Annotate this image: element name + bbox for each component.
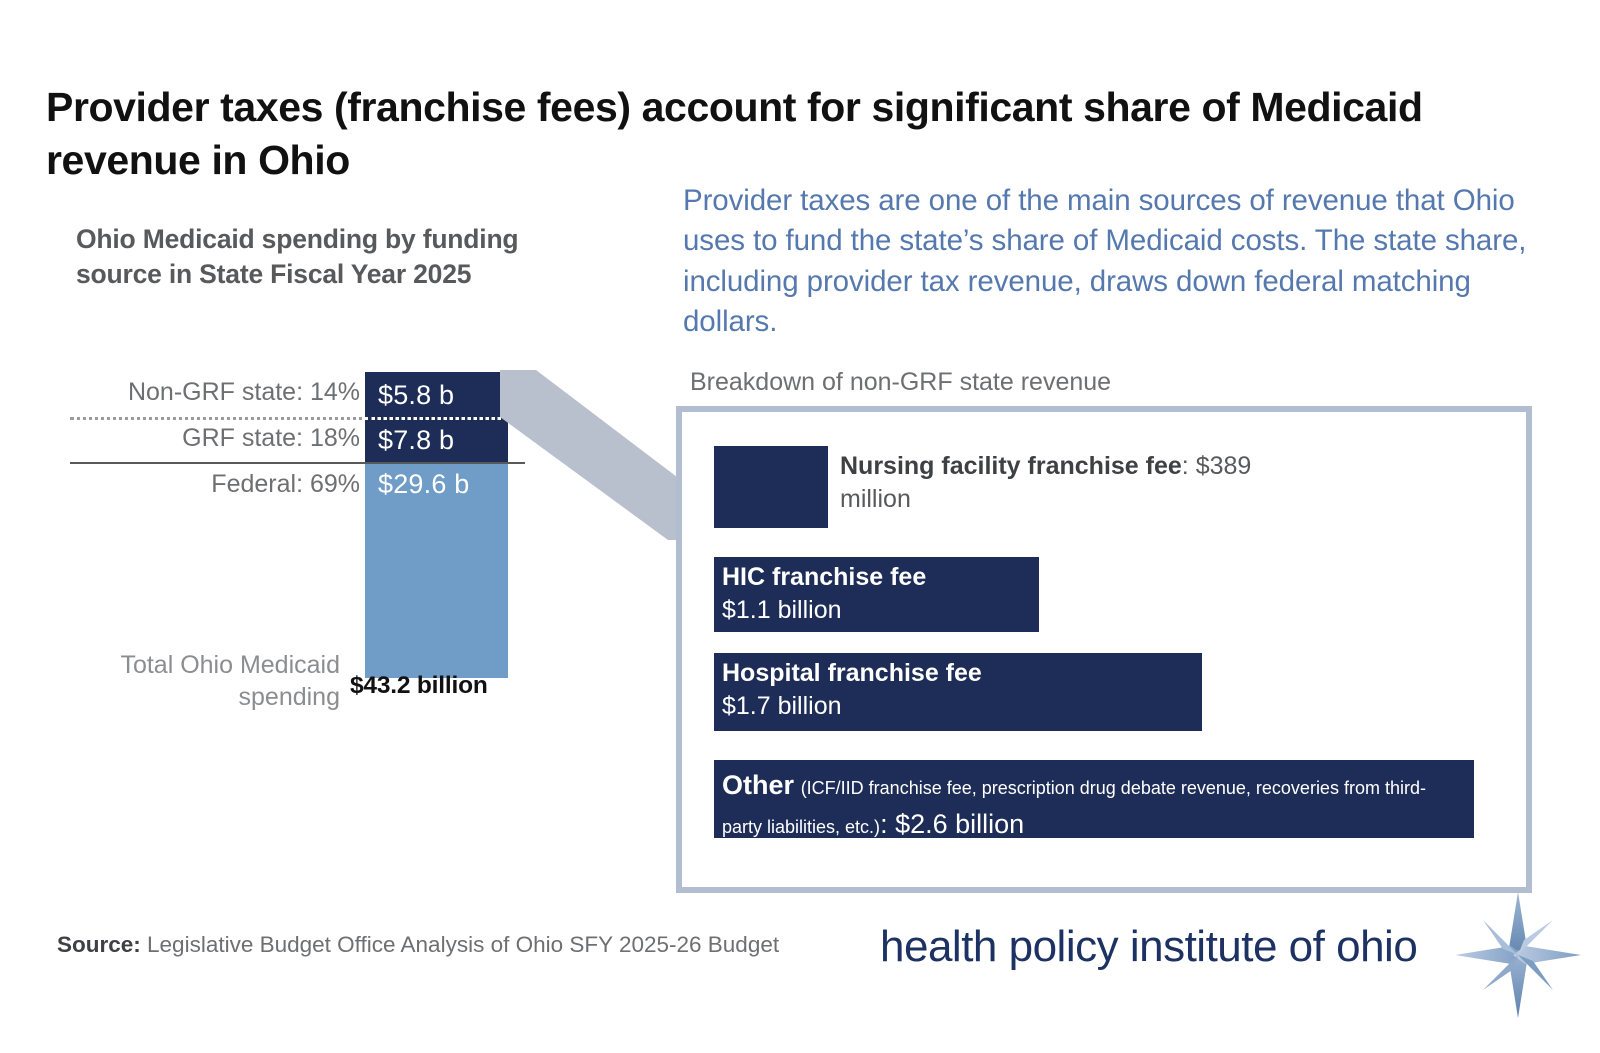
fee-amount-other: $2.6 billion xyxy=(895,809,1024,839)
infographic-canvas: Provider taxes (franchise fees) account … xyxy=(0,0,1600,1053)
page-title: Provider taxes (franchise fees) account … xyxy=(46,81,1506,186)
fee-label-nursing-facility: Nursing facility franchise fee: $389 mil… xyxy=(840,450,1270,515)
fee-separator-other: : xyxy=(880,809,895,839)
fee-label-hic: HIC franchise fee $1.1 billion xyxy=(722,561,926,627)
total-spending-label: Total Ohio Medicaid spending xyxy=(55,650,340,713)
fee-label-hospital: Hospital franchise fee $1.7 billion xyxy=(722,657,982,723)
fee-amount-hospital: $1.7 billion xyxy=(722,692,842,720)
source-text: Legislative Budget Office Analysis of Oh… xyxy=(141,932,779,957)
bar-segment-non-grf: $5.8 b xyxy=(365,372,508,418)
fee-amount-hic: $1.1 billion xyxy=(722,596,842,624)
bar-value-non-grf: $5.8 b xyxy=(365,380,454,411)
source-label: Source: xyxy=(57,932,141,957)
total-spending-value: $43.2 billion xyxy=(350,672,488,700)
intro-paragraph: Provider taxes are one of the main sourc… xyxy=(683,181,1528,343)
bar-value-federal: $29.6 b xyxy=(365,463,469,500)
fee-name-hospital: Hospital franchise fee xyxy=(722,659,982,687)
fee-bar-nursing-facility xyxy=(714,446,828,528)
compass-star-icon xyxy=(1453,890,1583,1020)
dotted-divider-overlay xyxy=(365,417,508,420)
fee-name-other: Other xyxy=(722,770,794,800)
bar-label-non-grf: Non-GRF state: 14% xyxy=(70,378,360,407)
fee-label-other: Other (ICF/IID franchise fee, prescripti… xyxy=(722,766,1462,844)
source-line: Source: Legislative Budget Office Analys… xyxy=(57,932,779,958)
bar-value-grf: $7.8 b xyxy=(365,425,454,456)
bar-label-grf: GRF state: 18% xyxy=(70,424,360,453)
bar-segment-grf: $7.8 b xyxy=(365,418,508,463)
left-chart-heading: Ohio Medicaid spending by funding source… xyxy=(76,222,536,292)
logo-wordmark: health policy institute of ohio xyxy=(880,922,1417,972)
fee-detail-other: (ICF/IID franchise fee, prescription dru… xyxy=(722,778,1426,837)
hpio-logo: health policy institute of ohio xyxy=(880,918,1540,990)
bar-segment-federal: $29.6 b xyxy=(365,463,508,678)
fee-name-hic: HIC franchise fee xyxy=(722,563,926,591)
bar-label-federal: Federal: 69% xyxy=(70,470,360,499)
solid-divider xyxy=(70,462,525,464)
breakdown-caption: Breakdown of non-GRF state revenue xyxy=(690,368,1111,397)
fee-name-nursing-facility: Nursing facility franchise fee xyxy=(840,452,1182,480)
fee-separator-nursing-facility: : xyxy=(1182,452,1196,480)
